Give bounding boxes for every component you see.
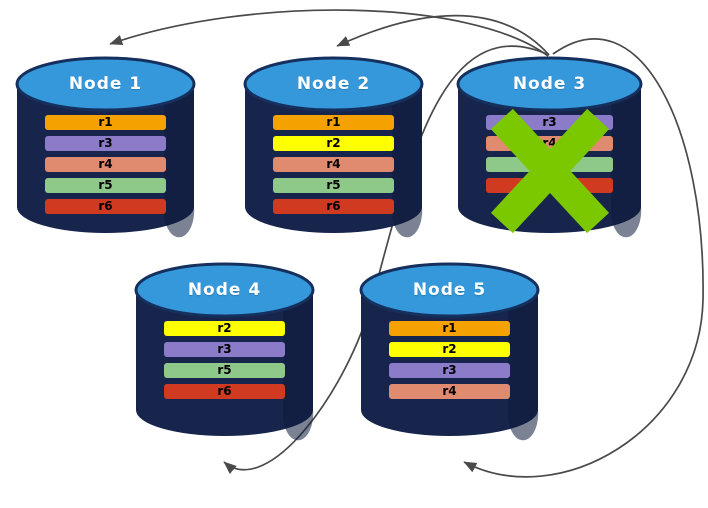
node-2-title: Node 2 [245, 74, 422, 94]
replica-bar[interactable]: r6 [486, 178, 613, 193]
node-3-title: Node 3 [458, 74, 641, 94]
replica-bar[interactable]: r5 [486, 157, 613, 172]
replica-bar[interactable]: r4 [486, 136, 613, 151]
node-1-title: Node 1 [17, 74, 194, 94]
node-1-replica-list: r1r3r4r5r6 [17, 115, 194, 214]
replica-bar[interactable]: r2 [273, 136, 394, 151]
node-4-replica-list: r2r3r5r6 [136, 321, 313, 399]
node-2-replica-list: r1r2r4r5r6 [245, 115, 422, 214]
replica-bar[interactable]: r1 [45, 115, 166, 130]
replica-bar[interactable]: r4 [45, 157, 166, 172]
node-4[interactable]: Node 4r2r3r5r6 [136, 264, 313, 436]
replica-bar[interactable]: r5 [273, 178, 394, 193]
replica-bar[interactable]: r6 [273, 199, 394, 214]
replica-bar[interactable]: r4 [389, 384, 510, 399]
node-2[interactable]: Node 2r1r2r4r5r6 [245, 58, 422, 233]
replica-bar[interactable]: r1 [273, 115, 394, 130]
replica-bar[interactable]: r5 [164, 363, 285, 378]
node-4-title: Node 4 [136, 280, 313, 300]
replica-bar[interactable]: r3 [486, 115, 613, 130]
replica-bar[interactable]: r6 [45, 199, 166, 214]
node-5-title: Node 5 [361, 280, 538, 300]
replica-bar[interactable]: r3 [164, 342, 285, 357]
node-5-replica-list: r1r2r3r4 [361, 321, 538, 399]
replica-bar[interactable]: r3 [45, 136, 166, 151]
replica-bar[interactable]: r1 [389, 321, 510, 336]
replica-bar[interactable]: r5 [45, 178, 166, 193]
replica-bar[interactable]: r3 [389, 363, 510, 378]
node-5[interactable]: Node 5r1r2r3r4 [361, 264, 538, 436]
replica-bar[interactable]: r2 [389, 342, 510, 357]
replica-bar[interactable]: r6 [164, 384, 285, 399]
node-3[interactable]: Node 3r3r4r5r6 [458, 58, 641, 233]
edge-node3-to-node2 [337, 16, 549, 55]
replica-bar[interactable]: r4 [273, 157, 394, 172]
edge-node3-to-node1 [110, 10, 548, 56]
diagram-canvas: Node 1r1r3r4r5r6Node 2r1r2r4r5r6Node 3r3… [0, 0, 708, 508]
node-3-replica-list: r3r4r5r6 [458, 115, 641, 193]
node-1[interactable]: Node 1r1r3r4r5r6 [17, 58, 194, 233]
replica-bar[interactable]: r2 [164, 321, 285, 336]
